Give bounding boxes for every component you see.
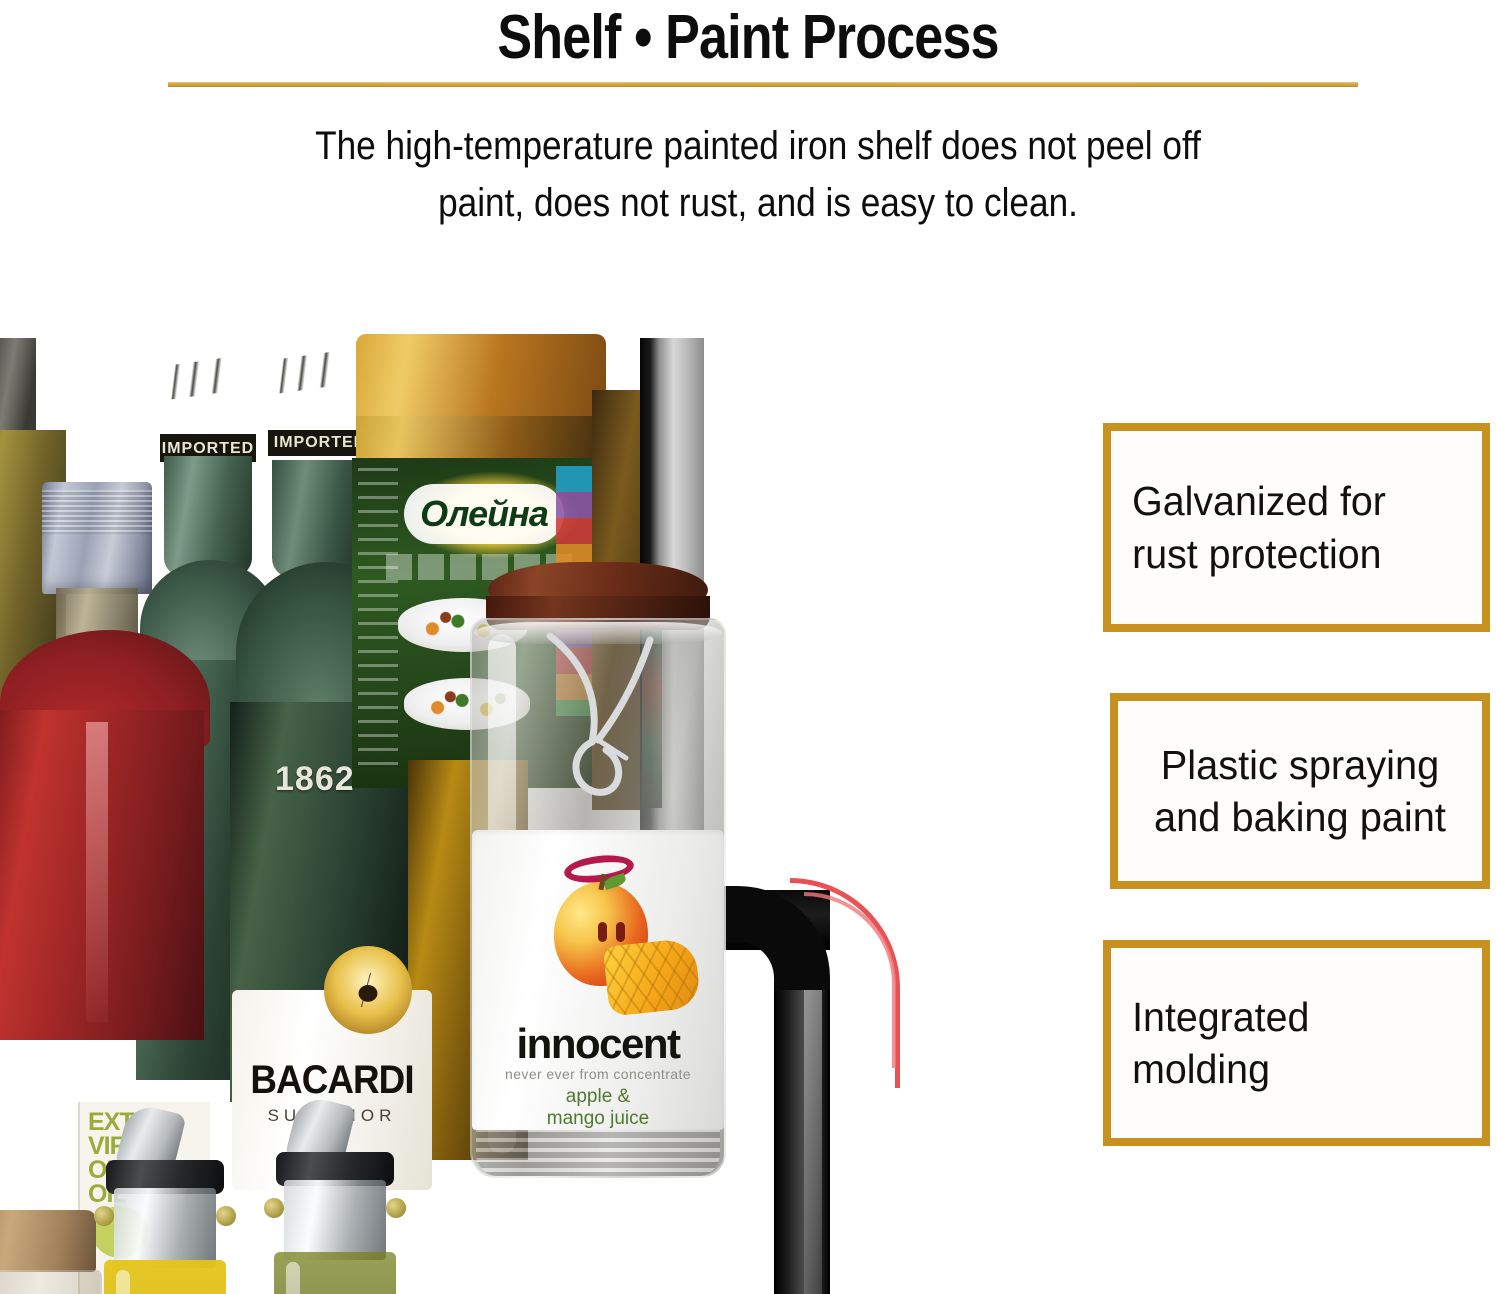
oil-dispenser-bottle	[100, 1160, 230, 1294]
oleina-brand-plate: Олейна	[404, 484, 564, 544]
bat-crest-icon	[324, 946, 412, 1034]
innocent-label: innocent never ever from concentrate app…	[472, 830, 724, 1130]
header: Shelf • Paint Process The high-temperatu…	[0, 0, 1496, 255]
dispenser-metal-ring	[284, 1180, 386, 1260]
feature-box-galvanized: Galvanized for rust protection	[1103, 423, 1490, 632]
innocent-brand-name: innocent	[472, 1020, 724, 1068]
oleina-ingredient-text	[358, 468, 398, 768]
feature-label: Integrated molding	[1111, 991, 1467, 1096]
apple-eye-right	[616, 922, 625, 942]
feature-label: Galvanized for rust protection	[1111, 475, 1467, 580]
innocent-tagline: never ever from concentrate	[472, 1066, 724, 1082]
feature-box-plastic-spraying: Plastic spraying and baking paint	[1110, 693, 1490, 889]
flavor-line-2: mango juice	[547, 1108, 649, 1129]
product-photo: IMPORTED IMPORTED 1862 Олейна BACARDI SU…	[0, 330, 905, 1294]
dispenser-nub-right	[216, 1206, 236, 1226]
dispenser-metal-ring	[114, 1188, 216, 1268]
page-title: Shelf • Paint Process	[120, 2, 1377, 73]
bat-glyph	[345, 973, 391, 1007]
grain-jar-wooden-lid	[0, 1210, 96, 1272]
apple-eye-left	[598, 922, 607, 942]
bacardi-brand-name: BACARDI	[240, 1058, 424, 1103]
cap-signature-mark	[274, 348, 360, 393]
dispenser-nub-left	[264, 1198, 284, 1218]
title-divider	[168, 82, 1358, 87]
dispenser-highlight	[286, 1262, 300, 1294]
mango-illustration	[603, 937, 702, 1016]
grain-storage-jar	[0, 1270, 102, 1294]
page-subtitle: The high-temperature painted iron shelf …	[309, 118, 1207, 232]
feature-label: Plastic spraying and baking paint	[1123, 739, 1476, 844]
dispenser-highlight	[116, 1270, 130, 1294]
green-bottle-1-cap: IMPORTED	[160, 336, 256, 448]
flavor-line-1: apple &	[566, 1086, 630, 1107]
red-bottle-highlight	[86, 722, 108, 1022]
feature-box-integrated-molding: Integrated molding	[1103, 940, 1490, 1146]
bacardi-embossed-year: 1862	[275, 760, 355, 799]
cap-signature-mark	[166, 354, 252, 399]
dispenser-nub-right	[386, 1198, 406, 1218]
jar-wire-bail-clasp-icon	[540, 630, 660, 820]
innocent-flavor: apple & mango juice	[472, 1086, 724, 1131]
dispenser-nub-left	[94, 1206, 114, 1226]
blue-screw-cap	[42, 482, 152, 594]
oleina-brand-name: Олейна	[404, 484, 564, 544]
vinegar-dispenser-bottle	[270, 1152, 400, 1294]
molding-highlight-arc-inner-icon	[804, 892, 896, 1068]
green-bottle-1-neck	[164, 456, 252, 576]
